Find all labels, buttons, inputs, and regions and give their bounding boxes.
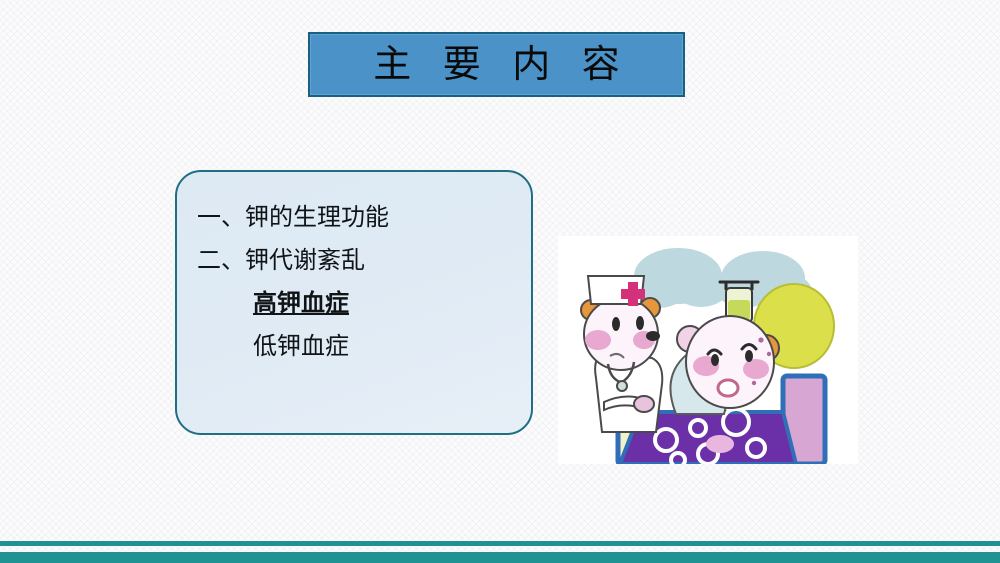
cartoon-illustration [558, 236, 858, 464]
list-item: 低钾血症 [191, 326, 521, 369]
outline-content-box: 一、钾的生理功能 二、钾代谢紊乱 高钾血症 低钾血症 [175, 170, 533, 435]
list-item: 高钾血症 [191, 283, 521, 326]
bear-doctor-patient-scene-icon [558, 236, 858, 464]
list-item: 一、钾的生理功能 [191, 197, 521, 240]
outline-list: 一、钾的生理功能 二、钾代谢紊乱 高钾血症 低钾血症 [191, 197, 521, 369]
footer-accent-bar-thin [0, 541, 1000, 546]
slide-canvas: 主 要 内 容 一、钾的生理功能 二、钾代谢紊乱 高钾血症 低钾血症 [0, 0, 1000, 563]
slide-title-box: 主 要 内 容 [308, 32, 685, 97]
footer-accent-bar-thick [0, 552, 1000, 563]
list-item: 二、钾代谢紊乱 [191, 240, 521, 283]
page-title: 主 要 内 容 [362, 46, 631, 84]
